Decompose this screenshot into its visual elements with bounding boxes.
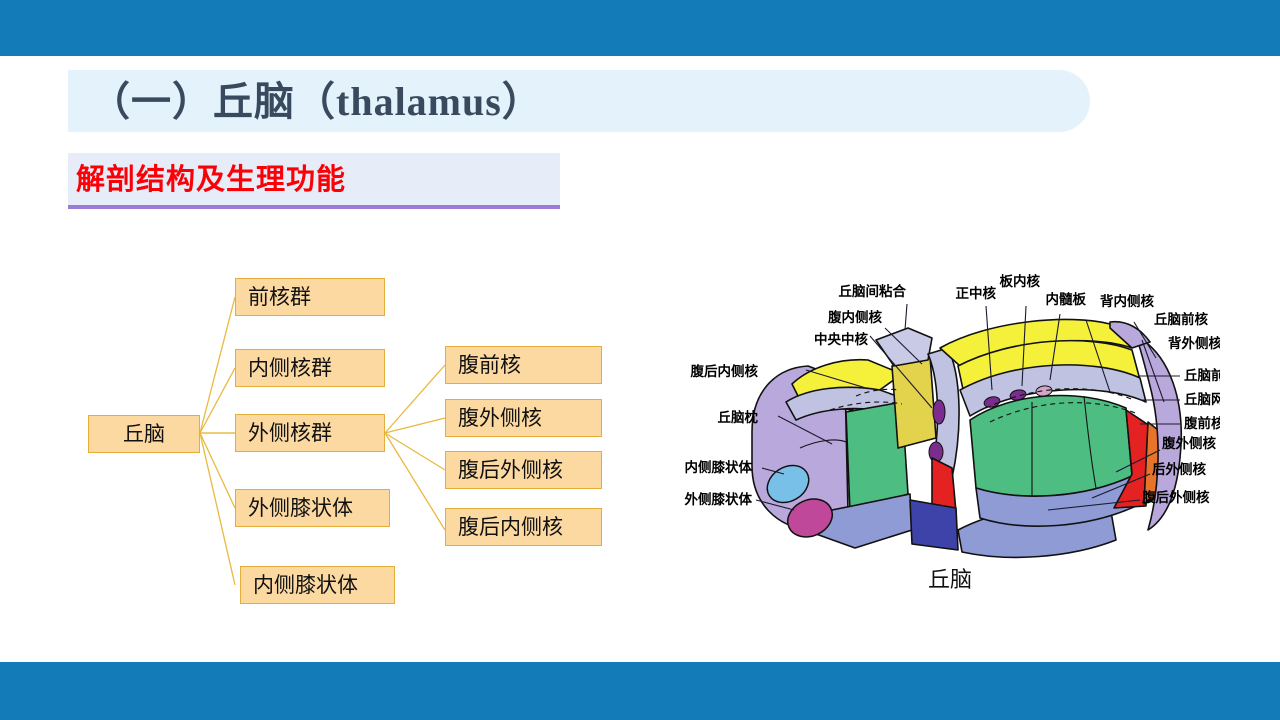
mindmap-node-label: 内侧膝状体: [253, 575, 358, 596]
mindmap-node-label: 内侧核群: [248, 358, 332, 379]
mindmap-node-label: 外侧膝状体: [248, 498, 353, 519]
thalamus-anatomy-figure: 丘脑间粘合 正中核 板内核 内髓板 背内侧核 腹内侧核 中央中核 腹后内侧核 丘…: [640, 262, 1220, 602]
mindmap-node-label: 腹外侧核: [458, 408, 542, 429]
mindmap-node-label: 前核群: [248, 287, 311, 308]
label-anterior-thalamic-nucleus: 丘脑前核: [1154, 311, 1208, 328]
mindmap-node-medial-group[interactable]: 内侧核群: [235, 349, 385, 387]
label-midline-nucleus: 正中核: [956, 285, 997, 302]
page-title: （一）丘脑（thalamus）: [90, 74, 990, 130]
subtitle-underline: [68, 205, 560, 209]
mindmap-node-label: 腹前核: [458, 355, 521, 376]
mindmap-node-label: 腹后外侧核: [458, 460, 563, 481]
label-pulvinar: 丘脑枕: [718, 409, 759, 426]
label-internal-medullary-lamina: 内髓板: [1046, 291, 1087, 308]
label-ventral-posterolateral-nucleus: 腹后外侧核: [1142, 489, 1210, 506]
mindmap-node-label: 腹后内侧核: [458, 517, 563, 538]
label-posterolateral-nucleus: 后外侧核: [1152, 461, 1206, 478]
figure-caption: 丘脑: [890, 562, 1010, 594]
mindmap-node-ventral-posteromedial[interactable]: 腹后内侧核: [445, 508, 602, 546]
mindmap-node-lateral-group[interactable]: 外侧核群: [235, 414, 385, 452]
thalamus-body: [752, 319, 1181, 557]
label-anterior-thalamic-tubercle: 丘脑前结节: [1184, 367, 1220, 384]
mindmap-node-ventral-posterolateral[interactable]: 腹后外侧核: [445, 451, 602, 489]
thalamus-mindmap: 丘脑 前核群 内侧核群 外侧核群 外侧膝状体 内侧膝状体 腹前核 腹外侧核 腹后…: [80, 255, 640, 625]
label-dorsolateral-nucleus: 背外侧核: [1168, 335, 1220, 352]
mindmap-node-label: 丘脑: [123, 424, 165, 445]
thalamus-illustration: 丘脑间粘合 正中核 板内核 内髓板 背内侧核 腹内侧核 中央中核 腹后内侧核 丘…: [640, 262, 1220, 602]
label-ventral-anterior-nucleus: 腹前核: [1184, 415, 1220, 432]
mindmap-node-anterior-group[interactable]: 前核群: [235, 278, 385, 316]
mindmap-node-ventral-anterior[interactable]: 腹前核: [445, 346, 602, 384]
label-thalamic-reticular-nucleus: 丘脑网状核: [1184, 391, 1220, 408]
top-accent-bar: [0, 0, 1280, 56]
subtitle-text: 解剖结构及生理功能: [76, 155, 346, 203]
slide-canvas: （一）丘脑（thalamus） 解剖结构及生理功能 丘脑: [0, 0, 1280, 720]
label-ventral-posteromedial-nucleus: 腹后内侧核: [691, 363, 759, 380]
label-dorsomedial-nucleus: 背内侧核: [1100, 293, 1154, 310]
mindmap-node-lateral-geniculate[interactable]: 外侧膝状体: [235, 489, 390, 527]
label-lateral-geniculate-body: 外侧膝状体: [685, 491, 753, 508]
mindmap-node-medial-geniculate[interactable]: 内侧膝状体: [240, 566, 395, 604]
mindmap-node-label: 外侧核群: [248, 423, 332, 444]
mindmap-node-ventral-lateral[interactable]: 腹外侧核: [445, 399, 602, 437]
label-centromedian-nucleus: 中央中核: [814, 331, 868, 348]
label-interthalamic-adhesion: 丘脑间粘合: [839, 283, 907, 300]
label-medial-geniculate-body: 内侧膝状体: [685, 459, 753, 476]
mindmap-node-root[interactable]: 丘脑: [88, 415, 200, 453]
label-ventromedial-nucleus: 腹内侧核: [828, 309, 882, 326]
bottom-accent-bar: [0, 662, 1280, 720]
label-intralaminar-nucleus: 板内核: [1000, 273, 1041, 290]
label-ventral-lateral-nucleus: 腹外侧核: [1162, 435, 1216, 452]
